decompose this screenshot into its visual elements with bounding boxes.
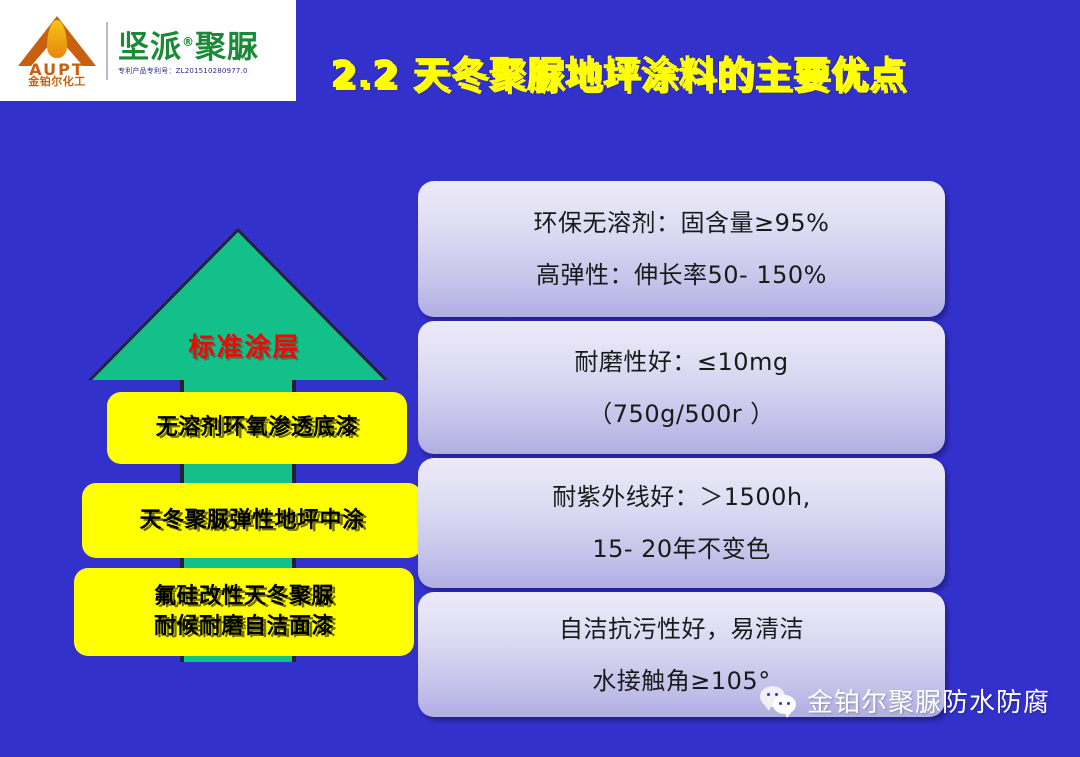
brand-main-part1: 坚派 (118, 29, 182, 65)
feature-panel-2: 耐磨性好：≤10mg （750g/500r ） (418, 321, 945, 454)
feature-panel-4-line1: 自洁抗污性好，易清洁 (559, 603, 804, 655)
feature-panel-3-line2: 15- 20年不变色 (592, 523, 770, 575)
coating-layer-topcoat-line1: 氟硅改性天冬聚脲 (154, 582, 334, 612)
watermark: 金铂尔聚脲防水防腐 (760, 682, 1050, 719)
coating-layer-topcoat: 氟硅改性天冬聚脲 耐候耐磨自洁面漆 (74, 568, 414, 656)
brand-name-block: 坚派®聚脲 专利产品专利号：ZL201510280977.0 (118, 25, 296, 76)
arrow-label: 标准涂层 (72, 327, 417, 364)
brand-name-line: 坚派®聚脲 (118, 25, 296, 64)
coating-layer-topcoat-line2: 耐候耐磨自洁面漆 (154, 612, 334, 642)
wechat-icon (760, 686, 798, 716)
feature-panel-1-line1: 环保无溶剂：固含量≥95% (534, 197, 830, 249)
wechat-dot (775, 693, 778, 696)
slide-canvas: AUPT 金铂尔化工 坚派®聚脲 专利产品专利号：ZL201510280977.… (0, 0, 1080, 757)
coating-layer-primer-line1: 无溶剂环氧渗透底漆 (156, 413, 359, 443)
watermark-text: 金铂尔聚脲防水防腐 (807, 682, 1050, 719)
brand-logo: AUPT 金铂尔化工 坚派®聚脲 专利产品专利号：ZL201510280977.… (0, 0, 296, 101)
registered-mark-icon: ® (182, 35, 195, 49)
feature-panel-2-line2: （750g/500r ） (588, 388, 774, 440)
patent-number-text: 专利产品专利号：ZL201510280977.0 (118, 66, 296, 76)
header-logo-bar: AUPT 金铂尔化工 坚派®聚脲 专利产品专利号：ZL201510280977.… (0, 0, 296, 101)
aupt-logo-icon: AUPT 金铂尔化工 (14, 12, 100, 90)
logo-divider (106, 22, 108, 80)
feature-panel-1-line2: 高弹性：伸长率50- 150% (536, 249, 827, 301)
brand-main-part2: 聚脲 (195, 29, 259, 65)
feature-panel-2-line1: 耐磨性好：≤10mg (574, 336, 788, 388)
wechat-dot (767, 693, 770, 696)
feature-panel-3: 耐紫外线好：＞1500h, 15- 20年不变色 (418, 458, 945, 588)
feature-panel-3-line1: 耐紫外线好：＞1500h, (552, 471, 810, 523)
wechat-dot (779, 702, 782, 705)
logo-company-cn: 金铂尔化工 (14, 76, 100, 88)
coating-layer-primer: 无溶剂环氧渗透底漆 (107, 392, 407, 464)
feature-panel-1: 环保无溶剂：固含量≥95% 高弹性：伸长率50- 150% (418, 181, 945, 317)
coating-layer-midcoat: 天冬聚脲弹性地坪中涂 (82, 483, 422, 558)
coating-layer-midcoat-line1: 天冬聚脲弹性地坪中涂 (139, 506, 364, 536)
feature-panel-4-line2: 水接触角≥105° (592, 655, 770, 707)
wechat-bubble-small (773, 695, 796, 714)
page-title: 2.2 天冬聚脲地坪涂料的主要优点 (330, 44, 1030, 98)
wechat-dot (787, 702, 790, 705)
